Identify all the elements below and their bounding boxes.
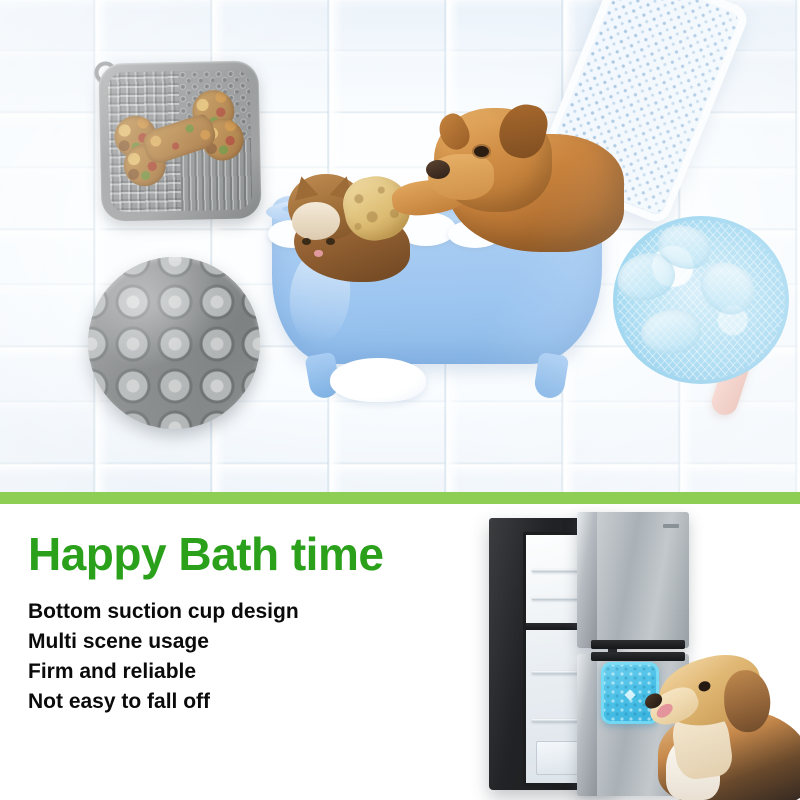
brand-logo [663, 524, 679, 528]
marketing-copy: Happy Bath time Bottom suction cup desig… [28, 530, 458, 718]
bathroom-photo-scene [0, 0, 800, 492]
headline: Happy Bath time [28, 530, 458, 579]
beagle-licking-mat [648, 652, 800, 800]
green-divider-bar [0, 492, 800, 504]
feature-item: Not easy to fall off [28, 687, 458, 717]
beagle-head [651, 645, 769, 737]
feature-item: Firm and reliable [28, 657, 458, 687]
product-banner: Happy Bath time Bottom suction cup desig… [0, 0, 800, 800]
bottom-info-panel: Happy Bath time Bottom suction cup desig… [0, 504, 800, 800]
freezer-door-lip [591, 640, 685, 649]
feature-item: Bottom suction cup design [28, 597, 458, 627]
scene-lighting-overlay [0, 0, 800, 492]
beagle-eye [697, 680, 711, 693]
beagle-ear [723, 669, 771, 733]
freezer-door-handle[interactable] [577, 512, 597, 648]
freezer-door [577, 512, 689, 648]
feature-item: Multi scene usage [28, 627, 458, 657]
feature-list: Bottom suction cup design Multi scene us… [28, 597, 458, 718]
fridge-door-handle[interactable] [577, 654, 597, 796]
